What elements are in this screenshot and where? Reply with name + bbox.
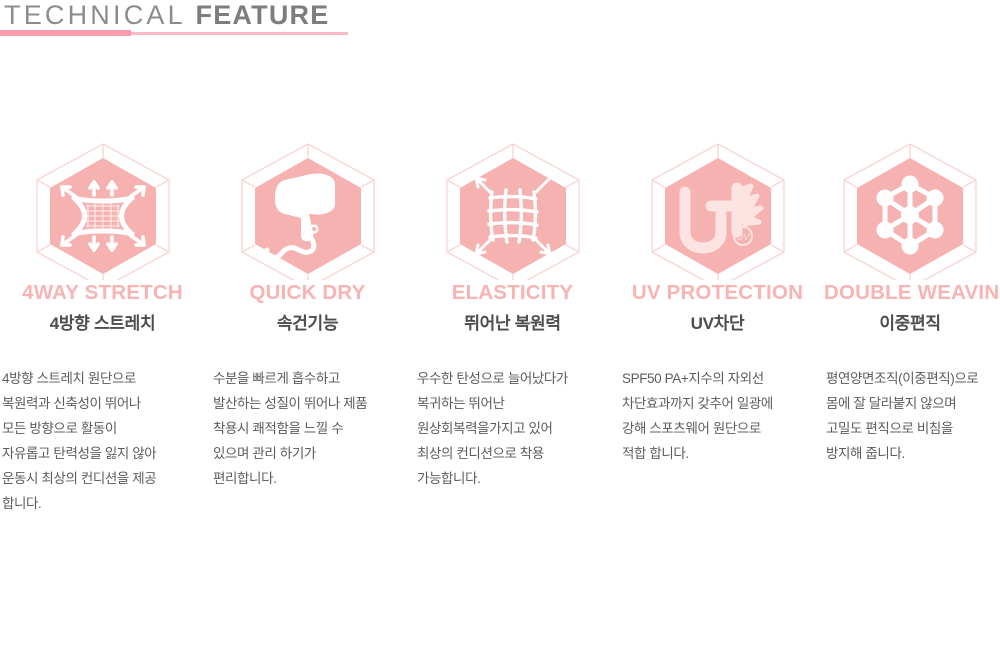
page-title-light: TECHNICAL (4, 0, 196, 30)
svg-text:UV: UV (736, 232, 749, 242)
feature-icon-wrapper (0, 140, 205, 280)
feature-icon-wrapper (410, 140, 615, 280)
feature-titles: UV PROTECTION UV차단 (615, 280, 820, 336)
feature-title: QUICK DRY (209, 280, 406, 306)
feature-icon-wrapper (205, 140, 410, 280)
feature-description: 평연양면조직(이중편직)으로 몸에 잘 달라붙지 않으며 고밀도 편직으로 비침… (826, 366, 989, 466)
page-header: TECHNICAL FEATURE (0, 0, 1000, 45)
feature-subtitle: 4방향 스트레치 (4, 312, 201, 336)
feature-icon-wrapper: UV (615, 140, 820, 280)
feature-subtitle: 이중편직 (824, 312, 996, 336)
feature-subtitle: 속건기능 (209, 312, 406, 336)
page-title: TECHNICAL FEATURE (4, 0, 329, 32)
feature-subtitle: UV차단 (619, 312, 816, 336)
feature-title: DOUBLE WEAVING (824, 280, 996, 306)
feature-titles: DOUBLE WEAVING 이중편직 (820, 280, 1000, 336)
feature-titles: QUICK DRY 속건기능 (205, 280, 410, 336)
feature-titles: 4WAY STRETCH 4방향 스트레치 (0, 280, 205, 336)
page-title-bold: FEATURE (196, 0, 330, 30)
uv-logo-icon: UV (633, 140, 803, 280)
feature-description: 4방향 스트레치 원단으로 복원력과 신축성이 뛰어나 모든 방향으로 활동이 … (2, 366, 160, 516)
feature-title: ELASTICITY (414, 280, 611, 306)
feature-item-quick-dry: QUICK DRY 속건기능 수분을 빠르게 흡수하고 발산하는 성질이 뛰어나… (205, 140, 410, 516)
feature-icon-wrapper (820, 140, 1000, 280)
feature-title: UV PROTECTION (619, 280, 816, 306)
feature-description: SPF50 PA+지수의 자외선 차단효과까지 갖추어 일광에 강해 스포츠웨어… (622, 366, 784, 466)
hair-dryer-icon (223, 140, 393, 280)
feature-description: 수분을 빠르게 흡수하고 발산하는 성질이 뛰어나 제품 착용시 쾌적함을 느낄… (213, 366, 373, 491)
feature-item-uv-protection: UV UV PROTECTION UV차단 SPF50 PA+지수의 자외선 차… (615, 140, 820, 516)
feature-item-4way-stretch: 4WAY STRETCH 4방향 스트레치 4방향 스트레치 원단으로 복원력과… (0, 140, 205, 516)
title-underline-strong (0, 30, 131, 36)
feature-title: 4WAY STRETCH (4, 280, 201, 306)
feature-item-elasticity: ELASTICITY 뛰어난 복원력 우수한 탄성으로 늘어났다가 복귀하는 뛰… (410, 140, 615, 516)
feature-list: 4WAY STRETCH 4방향 스트레치 4방향 스트레치 원단으로 복원력과… (0, 140, 1000, 516)
elastic-mesh-icon (428, 140, 598, 280)
feature-item-double-weaving: DOUBLE WEAVING 이중편직 평연양면조직(이중편직)으로 몸에 잘 … (820, 140, 1000, 516)
feature-titles: ELASTICITY 뛰어난 복원력 (410, 280, 615, 336)
feature-subtitle: 뛰어난 복원력 (414, 312, 611, 336)
feature-description: 우수한 탄성으로 늘어났다가 복귀하는 뛰어난 원상회복력을가지고 있어 최상의… (417, 366, 577, 491)
molecular-lattice-icon (825, 140, 995, 280)
four-way-stretch-icon (18, 140, 188, 280)
